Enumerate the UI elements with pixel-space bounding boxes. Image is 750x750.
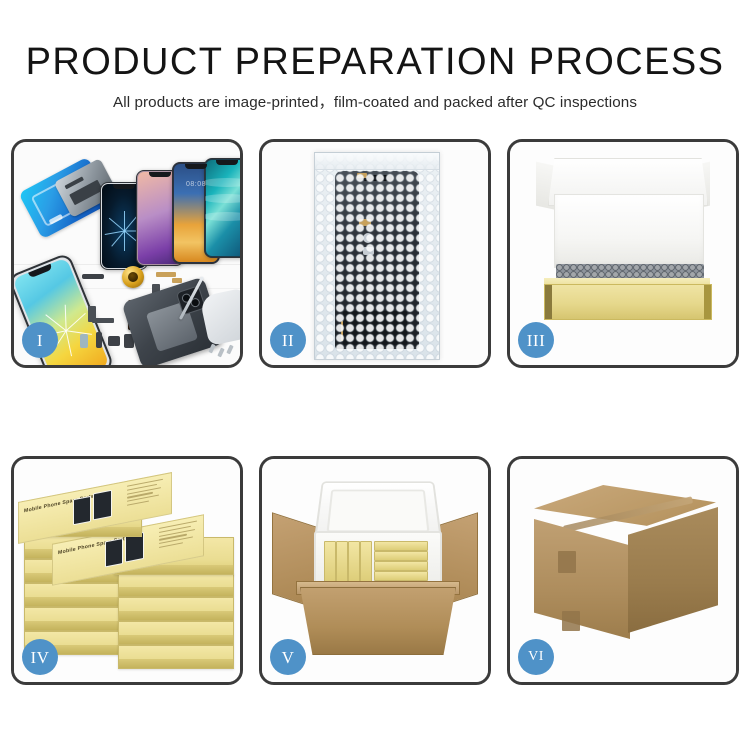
page-subtitle: All products are image-printed，film-coat…	[0, 83, 750, 112]
foam-sheet-icon	[554, 194, 704, 268]
step-badge-3: III	[518, 322, 554, 358]
process-step-3: III	[507, 139, 739, 368]
box-stack: Mobile Phone Spare Parts Mobile Phone Sp…	[22, 477, 234, 669]
screws-icon	[210, 344, 240, 360]
process-step-6: VI	[507, 456, 739, 685]
tape-strip-lower-icon	[562, 611, 580, 631]
step-badge-2: II	[270, 322, 306, 358]
yellow-box-base-icon	[544, 284, 712, 320]
process-step-5: V	[259, 456, 491, 685]
process-step-1: 08:08	[11, 139, 243, 368]
carton-body-icon	[300, 587, 456, 655]
packed-yellow-boxes	[324, 539, 428, 583]
step-badge-6: VI	[518, 639, 554, 675]
process-step-2: II	[259, 139, 491, 368]
phone-teal-icon	[204, 158, 240, 258]
step-badge-4: IV	[22, 639, 58, 675]
speaker-module-icon	[122, 266, 144, 288]
product-preparation-infographic: PRODUCT PREPARATION PROCESS All products…	[0, 0, 750, 750]
phone-lineup: 08:08	[100, 158, 240, 270]
header: PRODUCT PREPARATION PROCESS All products…	[0, 0, 750, 112]
bubble-wrap-bag-icon	[314, 152, 440, 360]
step-badge-1: I	[22, 322, 58, 358]
page-title: PRODUCT PREPARATION PROCESS	[0, 0, 750, 83]
process-step-grid: 08:08	[11, 139, 739, 695]
process-step-4: Mobile Phone Spare Parts Mobile Phone Sp…	[11, 456, 243, 685]
tape-strip-upper-icon	[558, 551, 576, 573]
step-badge-5: V	[270, 639, 306, 675]
